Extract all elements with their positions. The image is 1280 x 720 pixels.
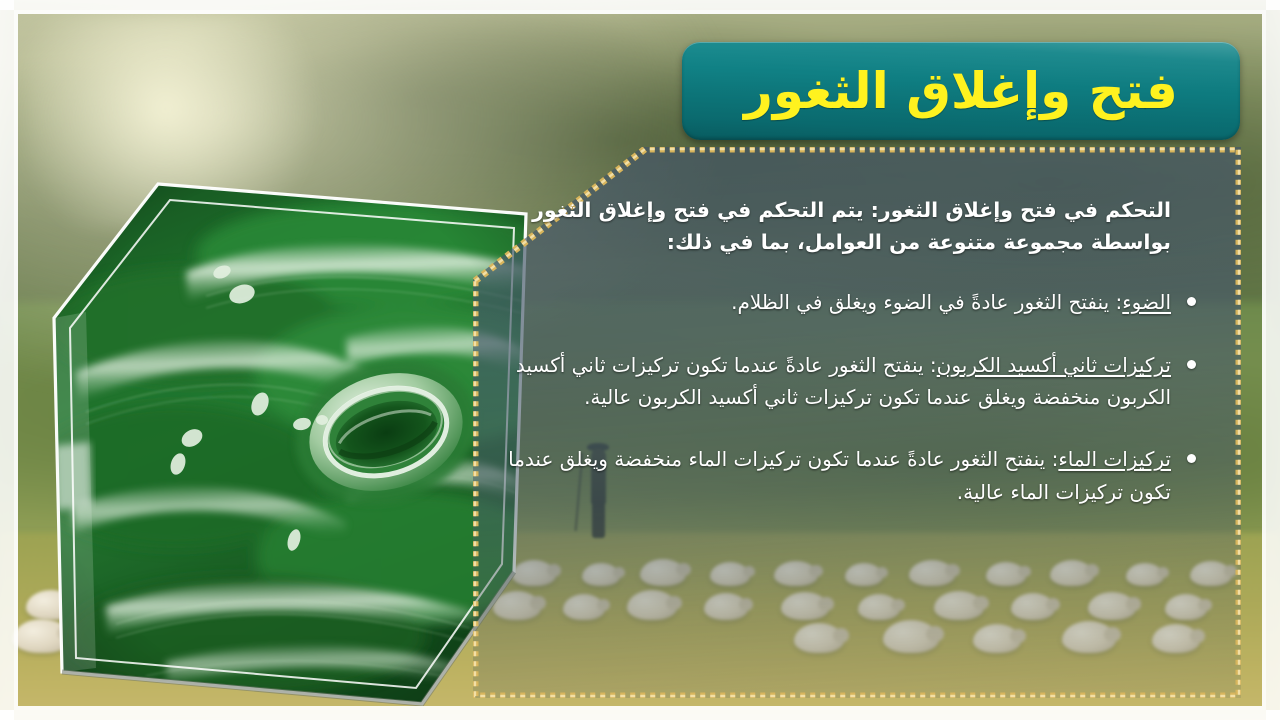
list-item: تركيزات ثاني أكسيد الكربون: ينفتح الثغور… bbox=[501, 349, 1207, 414]
slide-title: فتح وإغلاق الثغور bbox=[744, 66, 1178, 116]
stoma-hexagon-graphic bbox=[46, 176, 536, 710]
bullet-term-light: الضوء bbox=[1122, 290, 1171, 314]
list-item: الضوء: ينفتح الثغور عادةً في الضوء ويغلق… bbox=[501, 286, 1207, 318]
list-item: تركيزات الماء: ينفتح الثغور عادةً عندما … bbox=[501, 443, 1207, 508]
bullet-separator: : bbox=[930, 353, 937, 377]
slide-frame-bottom bbox=[0, 710, 1280, 720]
bullet-term-co2: تركيزات ثاني أكسيد الكربون bbox=[937, 353, 1171, 377]
slide-title-plaque: فتح وإغلاق الثغور bbox=[682, 42, 1240, 140]
intro-paragraph: التحكم في فتح وإغلاق الثغور: يتم التحكم … bbox=[501, 195, 1207, 258]
slide-frame-top bbox=[0, 0, 1280, 10]
content-panel: التحكم في فتح وإغلاق الثغور: يتم التحكم … bbox=[473, 147, 1241, 698]
bullet-term-water: تركيزات الماء bbox=[1058, 447, 1171, 471]
factors-list: الضوء: ينفتح الثغور عادةً في الضوء ويغلق… bbox=[501, 286, 1207, 508]
bullet-text-light: ينفتح الثغور عادةً في الضوء ويغلق في الظ… bbox=[731, 290, 1115, 314]
stoma-sem-image bbox=[46, 176, 536, 710]
content-panel-body: التحكم في فتح وإغلاق الثغور: يتم التحكم … bbox=[473, 147, 1241, 698]
slide-frame-left bbox=[0, 0, 14, 720]
slide-frame-right bbox=[1266, 0, 1280, 720]
slide: فتح وإغلاق الثغور التحكم في فتح وإغلاق ا… bbox=[0, 0, 1280, 720]
